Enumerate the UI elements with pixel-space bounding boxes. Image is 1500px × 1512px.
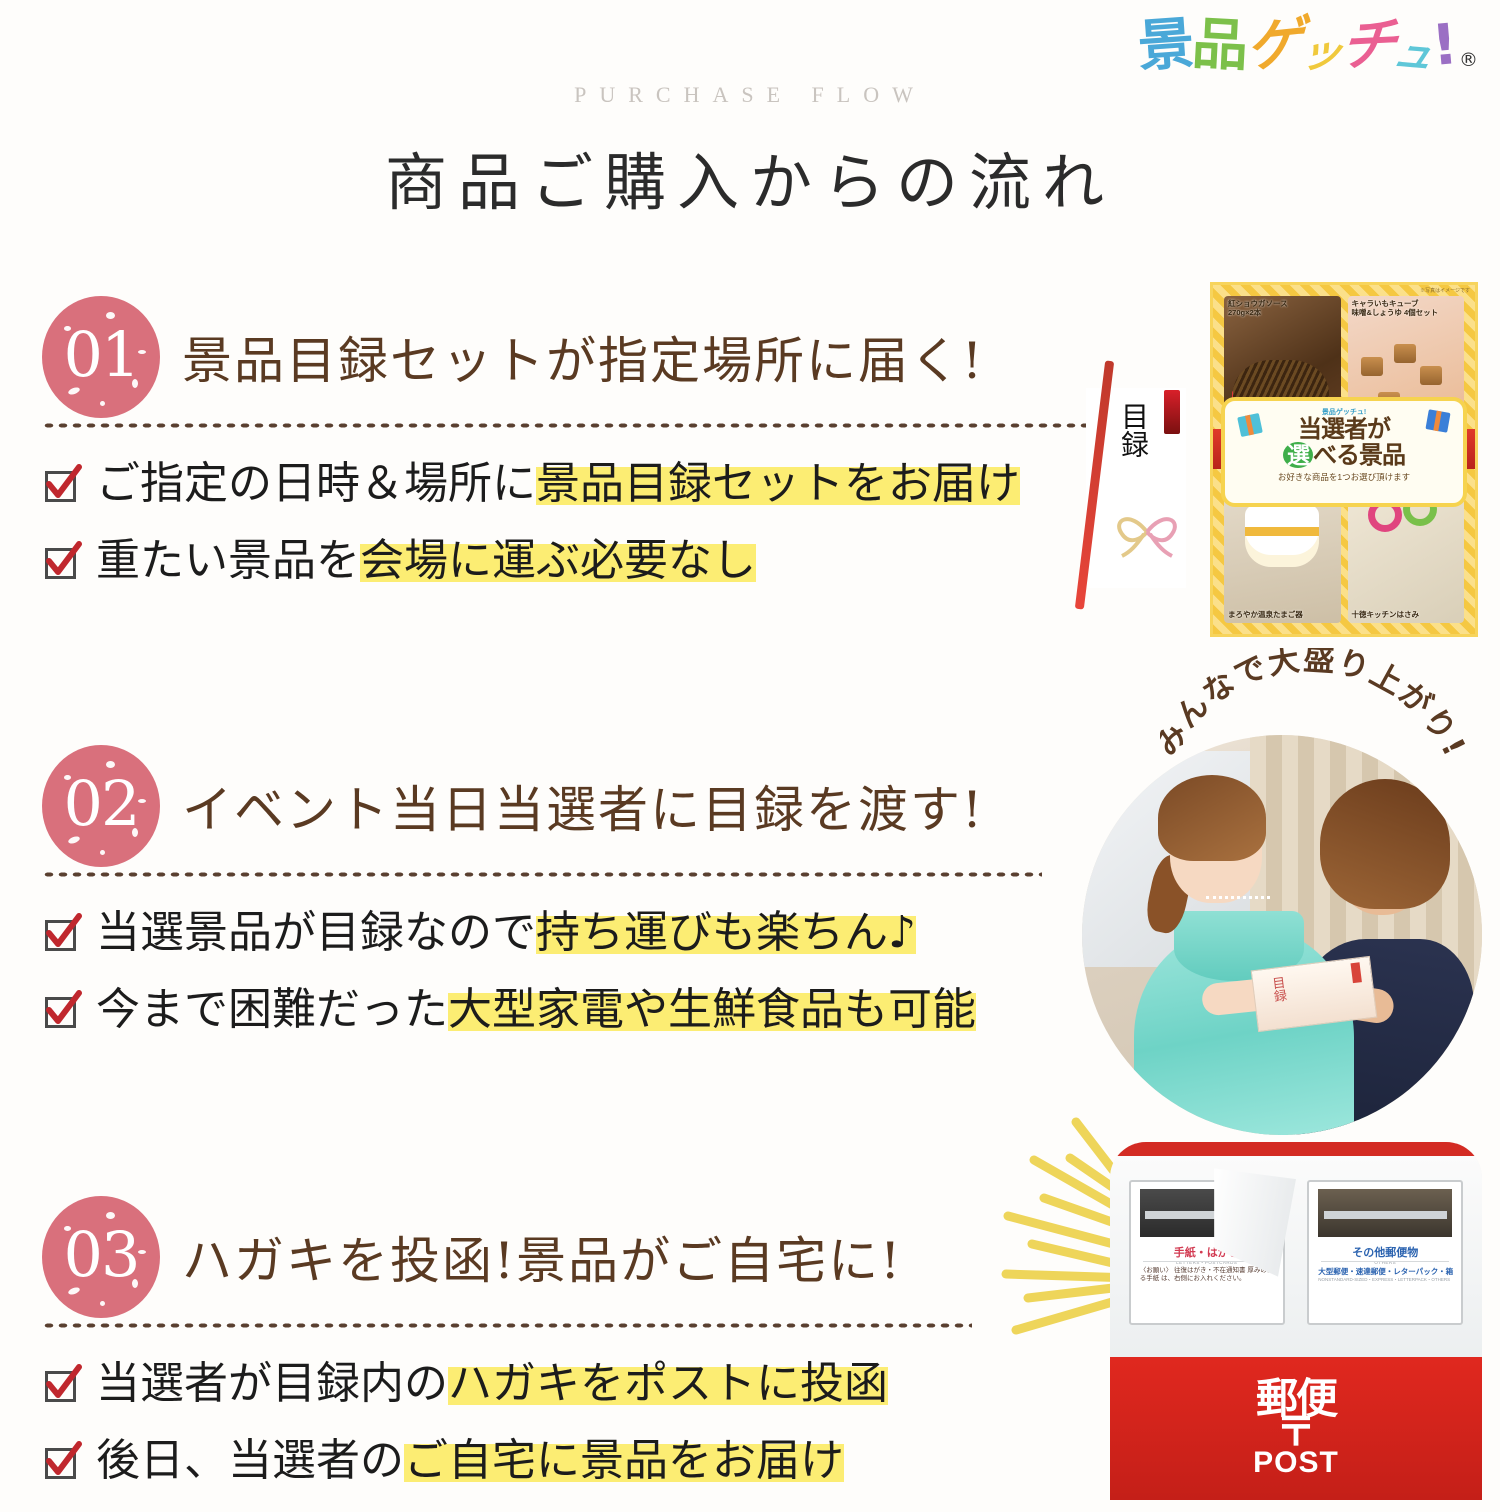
bullet-text: 後日、当選者のご自宅に景品をお届け — [96, 1436, 844, 1487]
checkbox-icon — [42, 1366, 80, 1404]
bullet-text: 今まで困難だった大型家電や生鮮食品も可能 — [96, 985, 976, 1036]
checkbox-icon — [42, 992, 80, 1030]
step-01-header: 01 景品目録セットが指定場所に届く! — [42, 296, 1102, 418]
bullet-text: 重たい景品を会場に運ぶ必要なし — [96, 536, 756, 587]
step-01-number-badge: 01 — [42, 296, 160, 418]
step-02-number: 02 — [64, 773, 139, 835]
checkbox-icon — [42, 1443, 80, 1481]
step-02-number-badge: 02 — [42, 745, 160, 867]
step-02-header: 02 イベント当日当選者に目録を渡す! — [42, 745, 1042, 867]
bullet-item: ご指定の日時＆場所に景品目録セットをお届け — [42, 459, 1102, 510]
mizuhiki-bow-icon — [1110, 506, 1184, 558]
postbox-photo: 手紙・はがき LETTERS・POSTCARDS 〈お願い〉 往復はがき・不在通… — [1110, 1142, 1482, 1500]
step-02-divider — [42, 871, 1042, 878]
catalog-headline: 景品ゲッチュ! 当選者が 選べる景品 お好きな商品を1つお選び頂けます — [1221, 397, 1467, 507]
step-03-header: 03 ハガキを投函!景品がご自宅に! — [42, 1196, 972, 1318]
envelope-label: 目録 — [1267, 975, 1289, 1003]
step-02: 02 イベント当日当選者に目録を渡す! 当選景品が目録なので持ち運びも楽ちん♪ … — [42, 745, 1042, 1061]
checkbox-icon — [42, 543, 80, 581]
catalog-subtext: お好きな商品を1つお選び頂けます — [1225, 471, 1463, 483]
step-03: 03 ハガキを投函!景品がご自宅に! 当選者が目録内のハガキをポストに投函 後日… — [42, 1196, 972, 1512]
step-03-divider — [42, 1322, 972, 1329]
step-03-number-badge: 03 — [42, 1196, 160, 1318]
postal-mark-icon: 〒 — [1110, 1418, 1482, 1446]
bullet-highlight: 会場に運ぶ必要なし — [360, 535, 756, 586]
step-02-title: イベント当日当選者に目録を渡す! — [182, 770, 984, 842]
noshi-envelope: 目録 — [1086, 388, 1186, 588]
bullet-highlight: ご自宅に景品をお届け — [404, 1435, 844, 1486]
section-eyebrow: PURCHASE FLOW — [0, 82, 1500, 108]
bullet-highlight: 景品目録セットをお届け — [536, 458, 1020, 509]
bullet-text: 当選景品が目録なので持ち運びも楽ちん♪ — [96, 908, 916, 959]
logo-char-1: 景 — [1137, 16, 1195, 76]
bullet-item: 重たい景品を会場に運ぶ必要なし — [42, 536, 1102, 587]
postbox-logo: 郵便 〒 POST — [1110, 1380, 1482, 1480]
slot-left-note: 〈お願い〉 往復はがき・不在通知書 厚みのある手紙 は、右側にお入れください。 — [1140, 1267, 1277, 1285]
slot-right-title: その他郵便物 OTHERS — [1309, 1244, 1461, 1265]
step-02-bullets: 当選景品が目録なので持ち運びも楽ちん♪ 今まで困難だった大型家電や生鮮食品も可能 — [42, 908, 1042, 1035]
step-01-bullets: ご指定の日時＆場所に景品目録セットをお届け 重たい景品を会場に運ぶ必要なし — [42, 459, 1102, 586]
bullet-highlight: 持ち運びも楽ちん♪ — [536, 907, 916, 958]
registered-mark-icon: ® — [1459, 51, 1476, 70]
step-03-title: ハガキを投函!景品がご自宅に! — [182, 1221, 902, 1293]
postbox-logo-en: POST — [1110, 1446, 1482, 1480]
catalog-item-4-label: 十徳キッチンはさみ — [1352, 609, 1420, 620]
catalog-corner-note: ※写真はイメージです — [1420, 287, 1470, 294]
catalog-cover: ※写真はイメージです 紅ショウガソース270g×2本 — [1210, 282, 1478, 637]
step-03-number: 03 — [64, 1224, 139, 1286]
catalog-item-2-label: キャラいもキューブ味噌&しょうゆ 4個セット — [1352, 299, 1462, 318]
bullet-text: ご指定の日時＆場所に景品目録セットをお届け — [96, 459, 1020, 510]
catalog-photo: 目録 ※写真はイメージです 紅ショウガソース270g×2本 — [1178, 282, 1478, 642]
logo-char-3: ゲ — [1246, 15, 1302, 77]
postbox-slot-others: その他郵便物 OTHERS 大型郵便・速達郵便・レターパック・箱 NONSTAN… — [1307, 1180, 1463, 1324]
logo-char-7: ! — [1430, 17, 1458, 75]
bullet-item: 当選者が目録内のハガキをポストに投函 — [42, 1359, 972, 1410]
catalog-item-3-label: まろやか温泉たまご器 — [1228, 609, 1303, 620]
page-title: 商品ご購入からの流れ — [0, 132, 1500, 222]
bullet-item: 今まで困難だった大型家電や生鮮食品も可能 — [42, 985, 1042, 1036]
noshi-tag-icon — [1164, 390, 1180, 434]
step-01: 01 景品目録セットが指定場所に届く! ご指定の日時＆場所に景品目録セットをお届… — [42, 296, 1102, 612]
checkbox-icon — [42, 466, 80, 504]
noshi-label: 目録 — [1116, 402, 1151, 458]
bullet-item: 後日、当選者のご自宅に景品をお届け — [42, 1436, 972, 1487]
catalog-item-1-label: 紅ショウガソース270g×2本 — [1228, 299, 1338, 318]
step-01-title: 景品目録セットが指定場所に届く! — [182, 321, 984, 393]
brand-logo: 景 品 ゲ ッ チ ュ ! ® — [1138, 18, 1476, 74]
award-ceremony-photo: 目録 — [1082, 735, 1482, 1135]
logo-char-6: ュ — [1390, 33, 1437, 76]
postbox-body-red: 郵便 〒 POST — [1110, 1357, 1482, 1500]
bullet-item: 当選景品が目録なので持ち運びも楽ちん♪ — [42, 908, 1042, 959]
step-03-bullets: 当選者が目録内のハガキをポストに投函 後日、当選者のご自宅に景品をお届け — [42, 1359, 972, 1486]
slot-right-note: 大型郵便・速達郵便・レターパック・箱 NONSTANDARD-SIZED・EXP… — [1318, 1267, 1455, 1283]
bullet-highlight: ハガキをポストに投函 — [448, 1358, 888, 1409]
step-01-divider — [42, 422, 1102, 429]
bullet-text: 当選者が目録内のハガキをポストに投函 — [96, 1359, 888, 1410]
step-01-number: 01 — [64, 324, 139, 386]
logo-char-2: 品 — [1191, 17, 1248, 76]
checkbox-icon — [42, 915, 80, 953]
logo-char-5: チ — [1338, 16, 1397, 75]
bullet-highlight: 大型家電や生鮮食品も可能 — [448, 984, 976, 1035]
